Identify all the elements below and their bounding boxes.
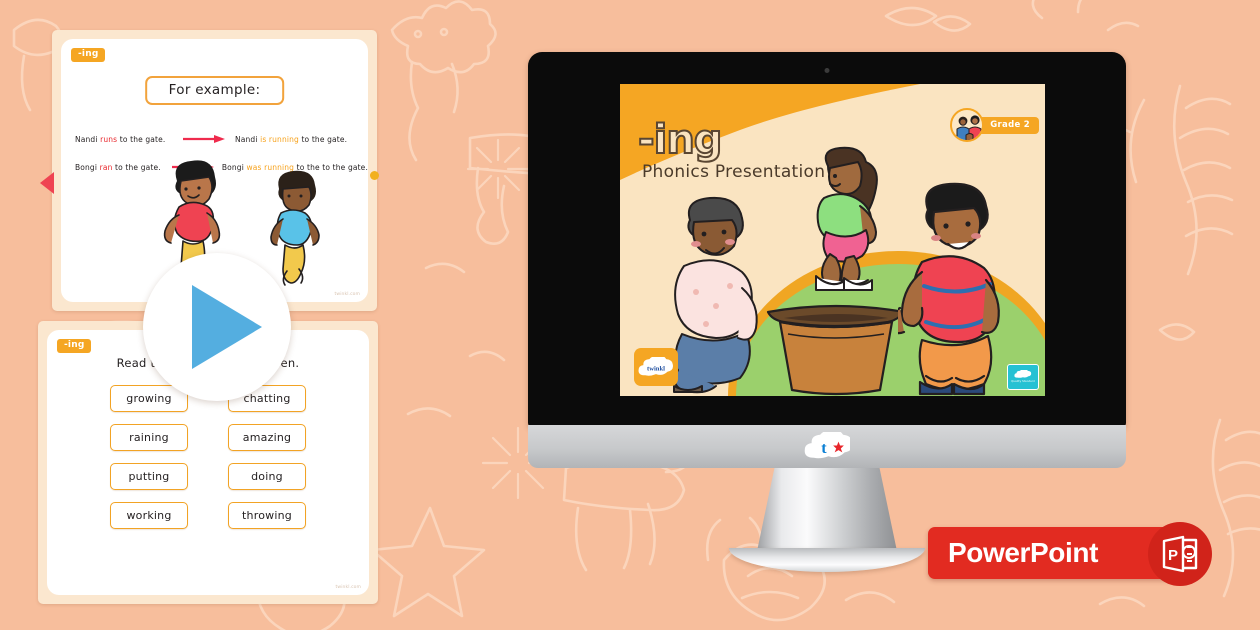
sentence-right-suffix: to the gate.	[299, 135, 347, 144]
word-column-left: growing raining putting working	[110, 385, 188, 529]
slide-1-topic-tag: -ing	[71, 48, 105, 62]
sentence-left-prefix: Nandi	[75, 135, 100, 144]
slide-nav-dot[interactable]	[370, 171, 379, 180]
sentence-right: Nandi is running to the gate.	[229, 135, 368, 144]
sentence-right-highlight: is running	[260, 135, 299, 144]
slide-2-word-grid: growing raining putting working chatting…	[47, 385, 369, 529]
svg-text:twinkl: twinkl	[647, 365, 665, 372]
word-box[interactable]: working	[110, 502, 188, 529]
svg-text:P: P	[1168, 547, 1178, 564]
monitor-screen[interactable]: -ing Phonics Presentation	[620, 84, 1045, 396]
powerpoint-label: PowerPoint	[948, 537, 1098, 569]
monitor-chin: t	[528, 425, 1126, 468]
svg-text:t: t	[821, 440, 827, 457]
word-column-right: chatting amazing doing throwing	[228, 385, 306, 529]
sentence-row: Nandi runs to the gate. Nandi is running…	[61, 125, 368, 153]
computer-monitor: -ing Phonics Presentation	[522, 52, 1132, 582]
play-button[interactable]	[143, 253, 291, 401]
planter-box-illustration	[762, 298, 910, 396]
grade-badge-avatar	[950, 108, 984, 142]
twinkl-badge-cloud-icon	[1014, 370, 1032, 379]
play-triangle-icon	[192, 285, 262, 369]
title-slide: -ing Phonics Presentation	[620, 84, 1045, 396]
two-children-avatar-icon	[952, 110, 984, 142]
powerpoint-badge: PowerPoint P	[928, 527, 1190, 579]
twinkl-t-cloud-logo: t	[804, 432, 850, 462]
monitor-stand-base	[729, 548, 925, 572]
sentence-left: Nandi runs to the gate.	[61, 135, 179, 144]
powerpoint-glyph: P	[1159, 533, 1201, 575]
slide-2-topic-tag: -ing	[57, 339, 91, 353]
slide-title: -ing	[638, 120, 721, 160]
page-background: -ing For example: Nandi runs to the gate…	[0, 0, 1260, 630]
boy-pointing-illustration	[898, 180, 1018, 396]
slide-1-heading: For example:	[145, 76, 285, 105]
twinkl-cloud-icon: twinkl	[638, 357, 674, 378]
word-box[interactable]: throwing	[228, 502, 306, 529]
monitor-bezel: -ing Phonics Presentation	[528, 52, 1126, 427]
powerpoint-p-icon: P	[1148, 522, 1212, 586]
sentence-left-suffix: to the gate.	[117, 135, 165, 144]
word-box[interactable]: raining	[110, 424, 188, 451]
grade-badge: Grade 2	[950, 108, 1039, 142]
slide-1-watermark: twinkl.com	[335, 292, 360, 297]
twinkl-badge-text: Quality Standard	[1011, 380, 1035, 383]
word-box[interactable]: doing	[228, 463, 306, 490]
word-box[interactable]: putting	[110, 463, 188, 490]
monitor-stand-neck	[756, 468, 898, 556]
webcam-icon	[825, 68, 830, 73]
twinkl-quality-badge: Quality Standard	[1007, 364, 1039, 390]
sentence-left-highlight: runs	[100, 135, 117, 144]
sentence-right-prefix: Nandi	[235, 135, 260, 144]
slide-prev-arrow[interactable]	[40, 172, 54, 194]
twinkl-t-icon: t	[804, 432, 850, 462]
arrow-right-icon	[179, 134, 229, 144]
slide-2-watermark: twinkl.com	[336, 585, 361, 590]
twinkl-brand-logo: twinkl	[634, 348, 678, 386]
running-girl-illustration	[261, 169, 329, 289]
jumping-girl-illustration	[790, 146, 898, 292]
word-box[interactable]: amazing	[228, 424, 306, 451]
